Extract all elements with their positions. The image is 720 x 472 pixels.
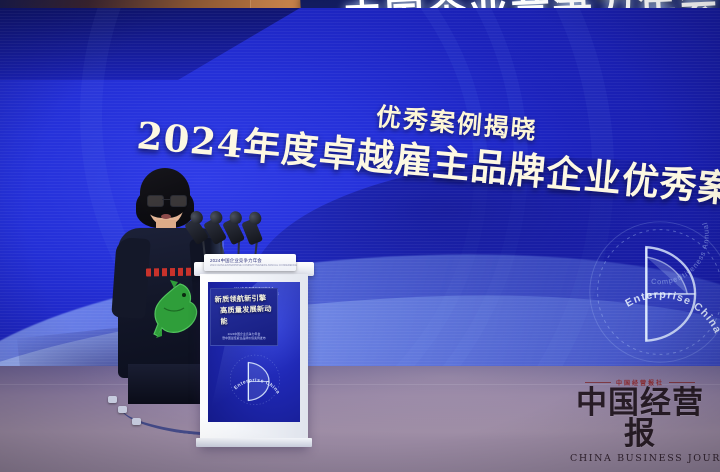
speaker-shoulder-left [111, 237, 150, 319]
podium-plaque: 2024中国企业竞争力年会 2024 CHINA ENTERPRISE COMP… [204, 254, 296, 271]
svg-text:Competitiveness Annual: Competitiveness Annual [651, 221, 711, 286]
podium-lectern: 2024中国企业竞争力年会 2024 CHINA ENTERPRISE COMP… [200, 262, 308, 447]
watermark-rule-right [669, 382, 695, 383]
watermark-english-name: CHINA BUSINESS JOURNAL [570, 453, 710, 464]
watermark-chinese-name: 中国经营报 [570, 388, 710, 451]
cable-clip [132, 418, 141, 425]
speaker-mouth [161, 214, 171, 219]
poster-foot-line2: 暨中国最佳雇主品牌价值案例发布 [216, 336, 272, 340]
speaker-hair-top [140, 168, 190, 218]
speaker-glasses-icon [147, 195, 185, 206]
podium-calligraphy-poster: 新质领航新引擎 高质量发展新动能 2024中国企业竞争力年会 暨中国最佳雇主品牌… [210, 288, 278, 346]
poster-footer-text: 2024中国企业竞争力年会 暨中国最佳雇主品牌价值案例发布 [216, 332, 272, 340]
podium-plaque-subtitle: 2024 CHINA ENTERPRISE COMPETITIVENESS AN… [210, 264, 297, 267]
speaker-lower-body [128, 364, 210, 404]
poster-line2: 高质量发展新动能 [215, 303, 274, 327]
publication-watermark: 中国经营报社 中国经营报 CHINA BUSINESS JOURNAL [570, 378, 710, 464]
led-backdrop-screen: Enterprise China Competitiveness Annual … [0, 8, 720, 368]
podium-base [196, 438, 312, 447]
conference-photo: 中国企业竞争力年会 [0, 0, 720, 472]
poster-calligraphy-text: 新质领航新引擎 高质量发展新动能 [214, 292, 273, 327]
watermark-rule-left [585, 382, 611, 383]
enterprise-china-logo-icon: Enterprise China Competitiveness Annual [582, 214, 720, 368]
podium-enterprise-china-logo-icon: Enterprise China [222, 346, 288, 412]
svg-text:Enterprise China: Enterprise China [623, 289, 720, 336]
sweater-dinosaur-graphic-icon [150, 278, 200, 340]
cable-clip [118, 406, 127, 413]
